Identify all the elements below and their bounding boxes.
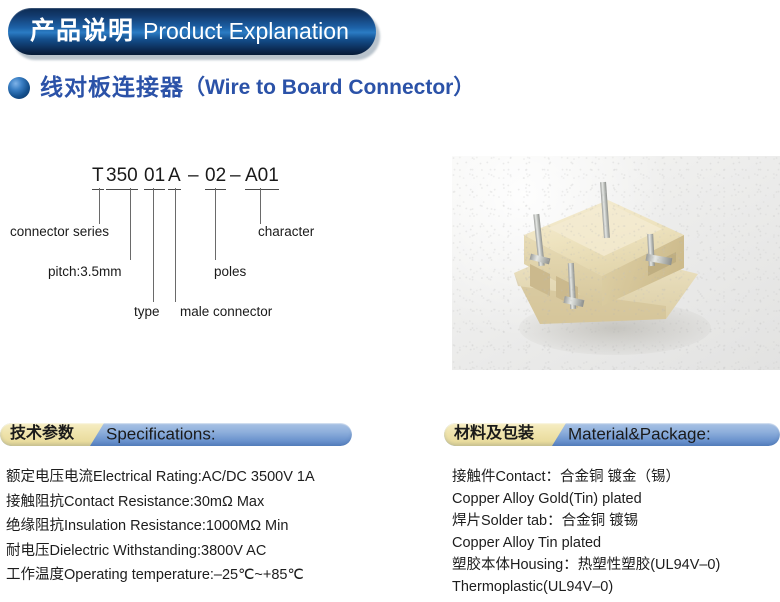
part-number-label-3: poles [214,264,246,280]
part-number-segment-0: T [92,165,104,190]
material-line-4: 塑胶本体Housing：热塑性塑胶(UL94V–0) [452,558,720,572]
part-number-dash-0: – [188,165,199,187]
subtitle-text-cn: 线对板连接器 [40,76,184,99]
subtitle-text-en: （Wire to Board Connector） [184,77,474,98]
material-line-3: Copper Alloy Tin plated [452,536,720,550]
page-header-banner: 产品说明 Product Explanation [8,8,376,55]
material-line-2: 焊片Solder tab：合金铜 镀锡 [452,514,720,528]
part-number-label-1: character [258,224,314,240]
product-photo [452,156,780,370]
specification-line-2: 绝缘阻抗Insulation Resistance:1000MΩ Min [6,519,315,533]
specification-line-4: 工作温度Operating temperature:–25℃~+85℃ [6,568,315,582]
leader-line-0 [99,188,100,224]
material-line-0: 接触件Contact：合金铜 镀金（锡） [452,470,720,484]
specifications-list: 额定电压电流Electrical Rating:AC/DC 3500V 1A接触… [6,470,315,593]
banner-title-en: Product Explanation [143,20,349,43]
specification-line-3: 耐电压Dielectric Withstanding:3800V AC [6,544,315,558]
part-number-label-2: pitch:3.5mm [48,264,122,280]
leader-line-1 [130,188,131,260]
leader-line-3 [175,188,176,302]
part-number-dash-1: – [230,165,241,187]
banner-pill: 产品说明 Product Explanation [8,8,376,55]
specifications-header-cn: 技术参数 [10,426,74,442]
material-line-1: Copper Alloy Gold(Tin) plated [452,492,720,506]
part-number-label-5: male connector [180,304,272,320]
specification-line-1: 接触阻抗Contact Resistance:30mΩ Max [6,495,315,509]
banner-title-cn: 产品说明 [30,19,134,44]
material-line-5: Thermoplastic(UL94V–0) [452,580,720,594]
blue-sphere-bullet-icon [8,77,30,99]
part-number-segment-2: 01 [144,165,165,190]
photo-background-texture [452,156,780,370]
part-number-label-4: type [134,304,160,320]
part-number-label-0: connector series [10,224,109,240]
leader-line-2 [153,188,154,302]
specification-line-0: 额定电压电流Electrical Rating:AC/DC 3500V 1A [6,470,315,484]
part-number-segment-3: A [168,165,181,190]
section-subtitle: 线对板连接器 （Wire to Board Connector） [8,76,474,99]
part-number-segment-1: 350 [106,165,138,190]
specifications-header-en: Specifications: [106,426,216,443]
part-number-segment-5: A01 [245,165,279,190]
part-number-segment-4: 02 [205,165,226,190]
leader-line-5 [260,188,261,224]
material-header-en: Material&Package: [568,426,711,443]
material-header-cn: 材料及包装 [454,426,534,442]
leader-line-4 [215,188,216,260]
material-package-list: 接触件Contact：合金铜 镀金（锡）Copper Alloy Gold(Ti… [452,470,720,602]
part-number-diagram: T35001A02A01–– connector seriescharacter… [0,160,430,320]
